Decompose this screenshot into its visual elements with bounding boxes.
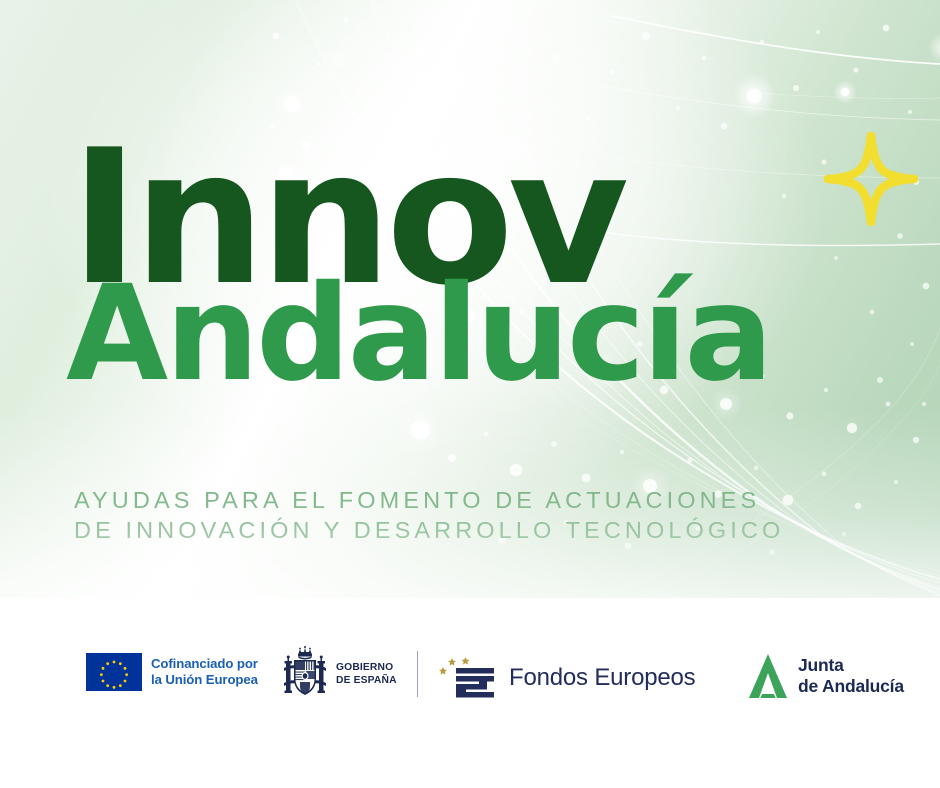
logo-divider	[417, 651, 418, 697]
spain-coat-of-arms-icon	[282, 645, 328, 703]
junta-andalucia-a-icon	[748, 653, 788, 699]
fondos-europeos-icon	[437, 655, 497, 701]
logo-fondos-europeos: Fondos Europeos	[437, 655, 695, 701]
eu-flag-icon	[86, 653, 142, 691]
logo-european-union: Cofinanciado por la Unión Europea	[86, 653, 258, 691]
wordmark: Innov Andalucía	[70, 140, 890, 392]
logo-european-union-label: Cofinanciado por la Unión Europea	[151, 656, 258, 688]
hero-background: Innov Andalucía AYUDAS PARA EL FOMENTO D…	[0, 0, 940, 598]
logo-junta-label: Junta de Andalucía	[798, 655, 904, 697]
logo-junta-de-andalucia: Junta de Andalucía	[748, 653, 904, 699]
wordmark-line-andalucia: Andalucía	[66, 278, 890, 392]
logo-gobierno-de-espana: GOBIERNO DE ESPAÑA	[282, 645, 418, 703]
poster-root: Innov Andalucía AYUDAS PARA EL FOMENTO D…	[0, 0, 940, 788]
funding-logo-row: Cofinanciado por la Unión Europea	[0, 653, 940, 713]
subtitle: AYUDAS PARA EL FOMENTO DE ACTUACIONES DE…	[74, 486, 904, 545]
logo-fondos-europeos-label: Fondos Europeos	[509, 664, 695, 692]
logo-gobierno-label: GOBIERNO DE ESPAÑA	[336, 661, 397, 687]
funding-logo-bar: Cofinanciado por la Unión Europea	[0, 598, 940, 788]
